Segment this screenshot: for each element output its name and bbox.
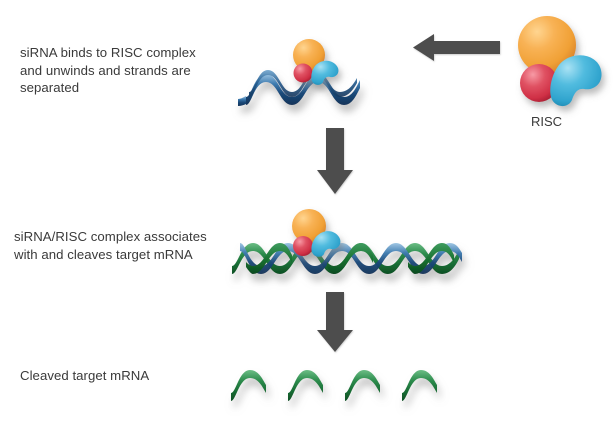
step-3-caption: Cleaved target mRNA xyxy=(20,367,235,385)
mrna-fragment xyxy=(231,370,266,401)
cyan-bean xyxy=(550,55,601,106)
risc-label: RISC xyxy=(531,114,562,129)
risc-complex-on-duplex xyxy=(292,209,340,257)
cyan-bean xyxy=(311,61,338,85)
arrow-down-icon-1 xyxy=(317,128,353,194)
red-sphere xyxy=(294,64,313,83)
mrna-fragment xyxy=(288,370,323,401)
risc-complex-on-sirna xyxy=(293,39,338,85)
mrna-fragment xyxy=(345,370,380,401)
sirna-pathway-diagram: siRNA binds to RISC complex and unwinds … xyxy=(0,0,613,421)
sirna-single-strand xyxy=(238,70,360,106)
red-sphere xyxy=(520,64,558,102)
orange-sphere xyxy=(292,209,326,243)
arrow-down-icon-2 xyxy=(317,292,353,352)
red-sphere xyxy=(293,236,313,256)
risc-complex-large xyxy=(518,16,602,106)
step-1-caption: siRNA binds to RISC complex and unwinds … xyxy=(20,44,225,97)
orange-sphere xyxy=(518,16,576,74)
mrna-fragment xyxy=(402,370,437,401)
step-2-caption: siRNA/RISC complex associates with and c… xyxy=(14,228,239,263)
sirna-mrna-double-helix xyxy=(232,243,462,274)
cyan-bean xyxy=(311,231,340,257)
cleaved-mrna-fragments xyxy=(231,370,437,401)
orange-sphere xyxy=(293,39,325,71)
arrow-left-icon xyxy=(413,34,500,61)
